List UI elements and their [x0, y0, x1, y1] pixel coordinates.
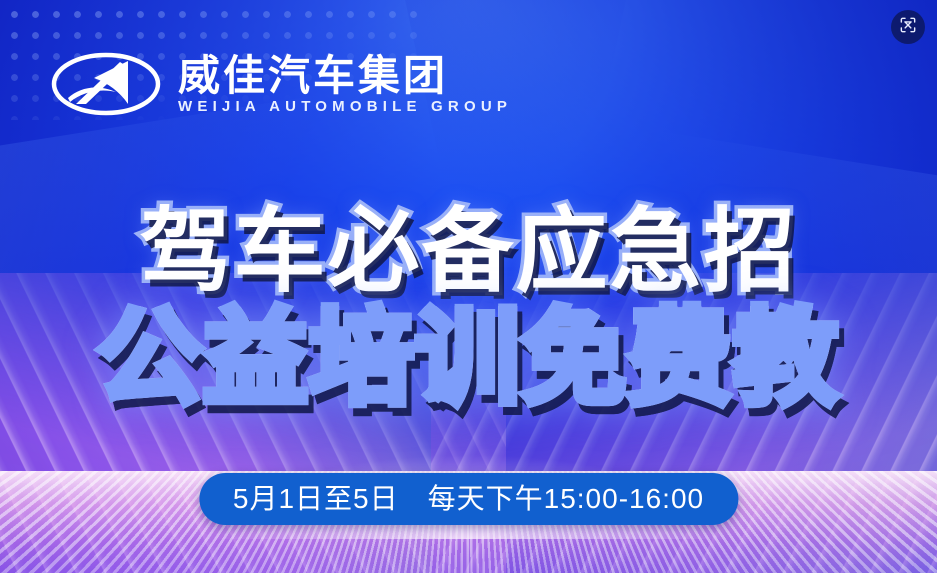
- headline-block: 驾车必备应急招 公益培训免费教: [0, 206, 937, 412]
- headline-line-2: 公益培训免费教: [0, 306, 937, 412]
- weijia-sail-oval-logo-icon: [50, 52, 162, 116]
- brand-name-en: WEIJIA AUTOMOBILE GROUP: [178, 99, 512, 114]
- brand-lockup: 威佳汽车集团 WEIJIA AUTOMOBILE GROUP: [50, 52, 512, 116]
- brand-text-block: 威佳汽车集团 WEIJIA AUTOMOBILE GROUP: [178, 55, 512, 114]
- brand-name-cn: 威佳汽车集团: [178, 55, 512, 97]
- schedule-text: 5月1日至5日 每天下午15:00-16:00: [233, 485, 704, 513]
- headline-line-1: 驾车必备应急招: [0, 206, 937, 300]
- translate-button[interactable]: [891, 10, 925, 44]
- translate-scan-icon: [898, 15, 918, 40]
- schedule-badge: 5月1日至5日 每天下午15:00-16:00: [199, 473, 738, 525]
- promo-poster: 威佳汽车集团 WEIJIA AUTOMOBILE GROUP 驾车必备应急招 公…: [0, 0, 937, 573]
